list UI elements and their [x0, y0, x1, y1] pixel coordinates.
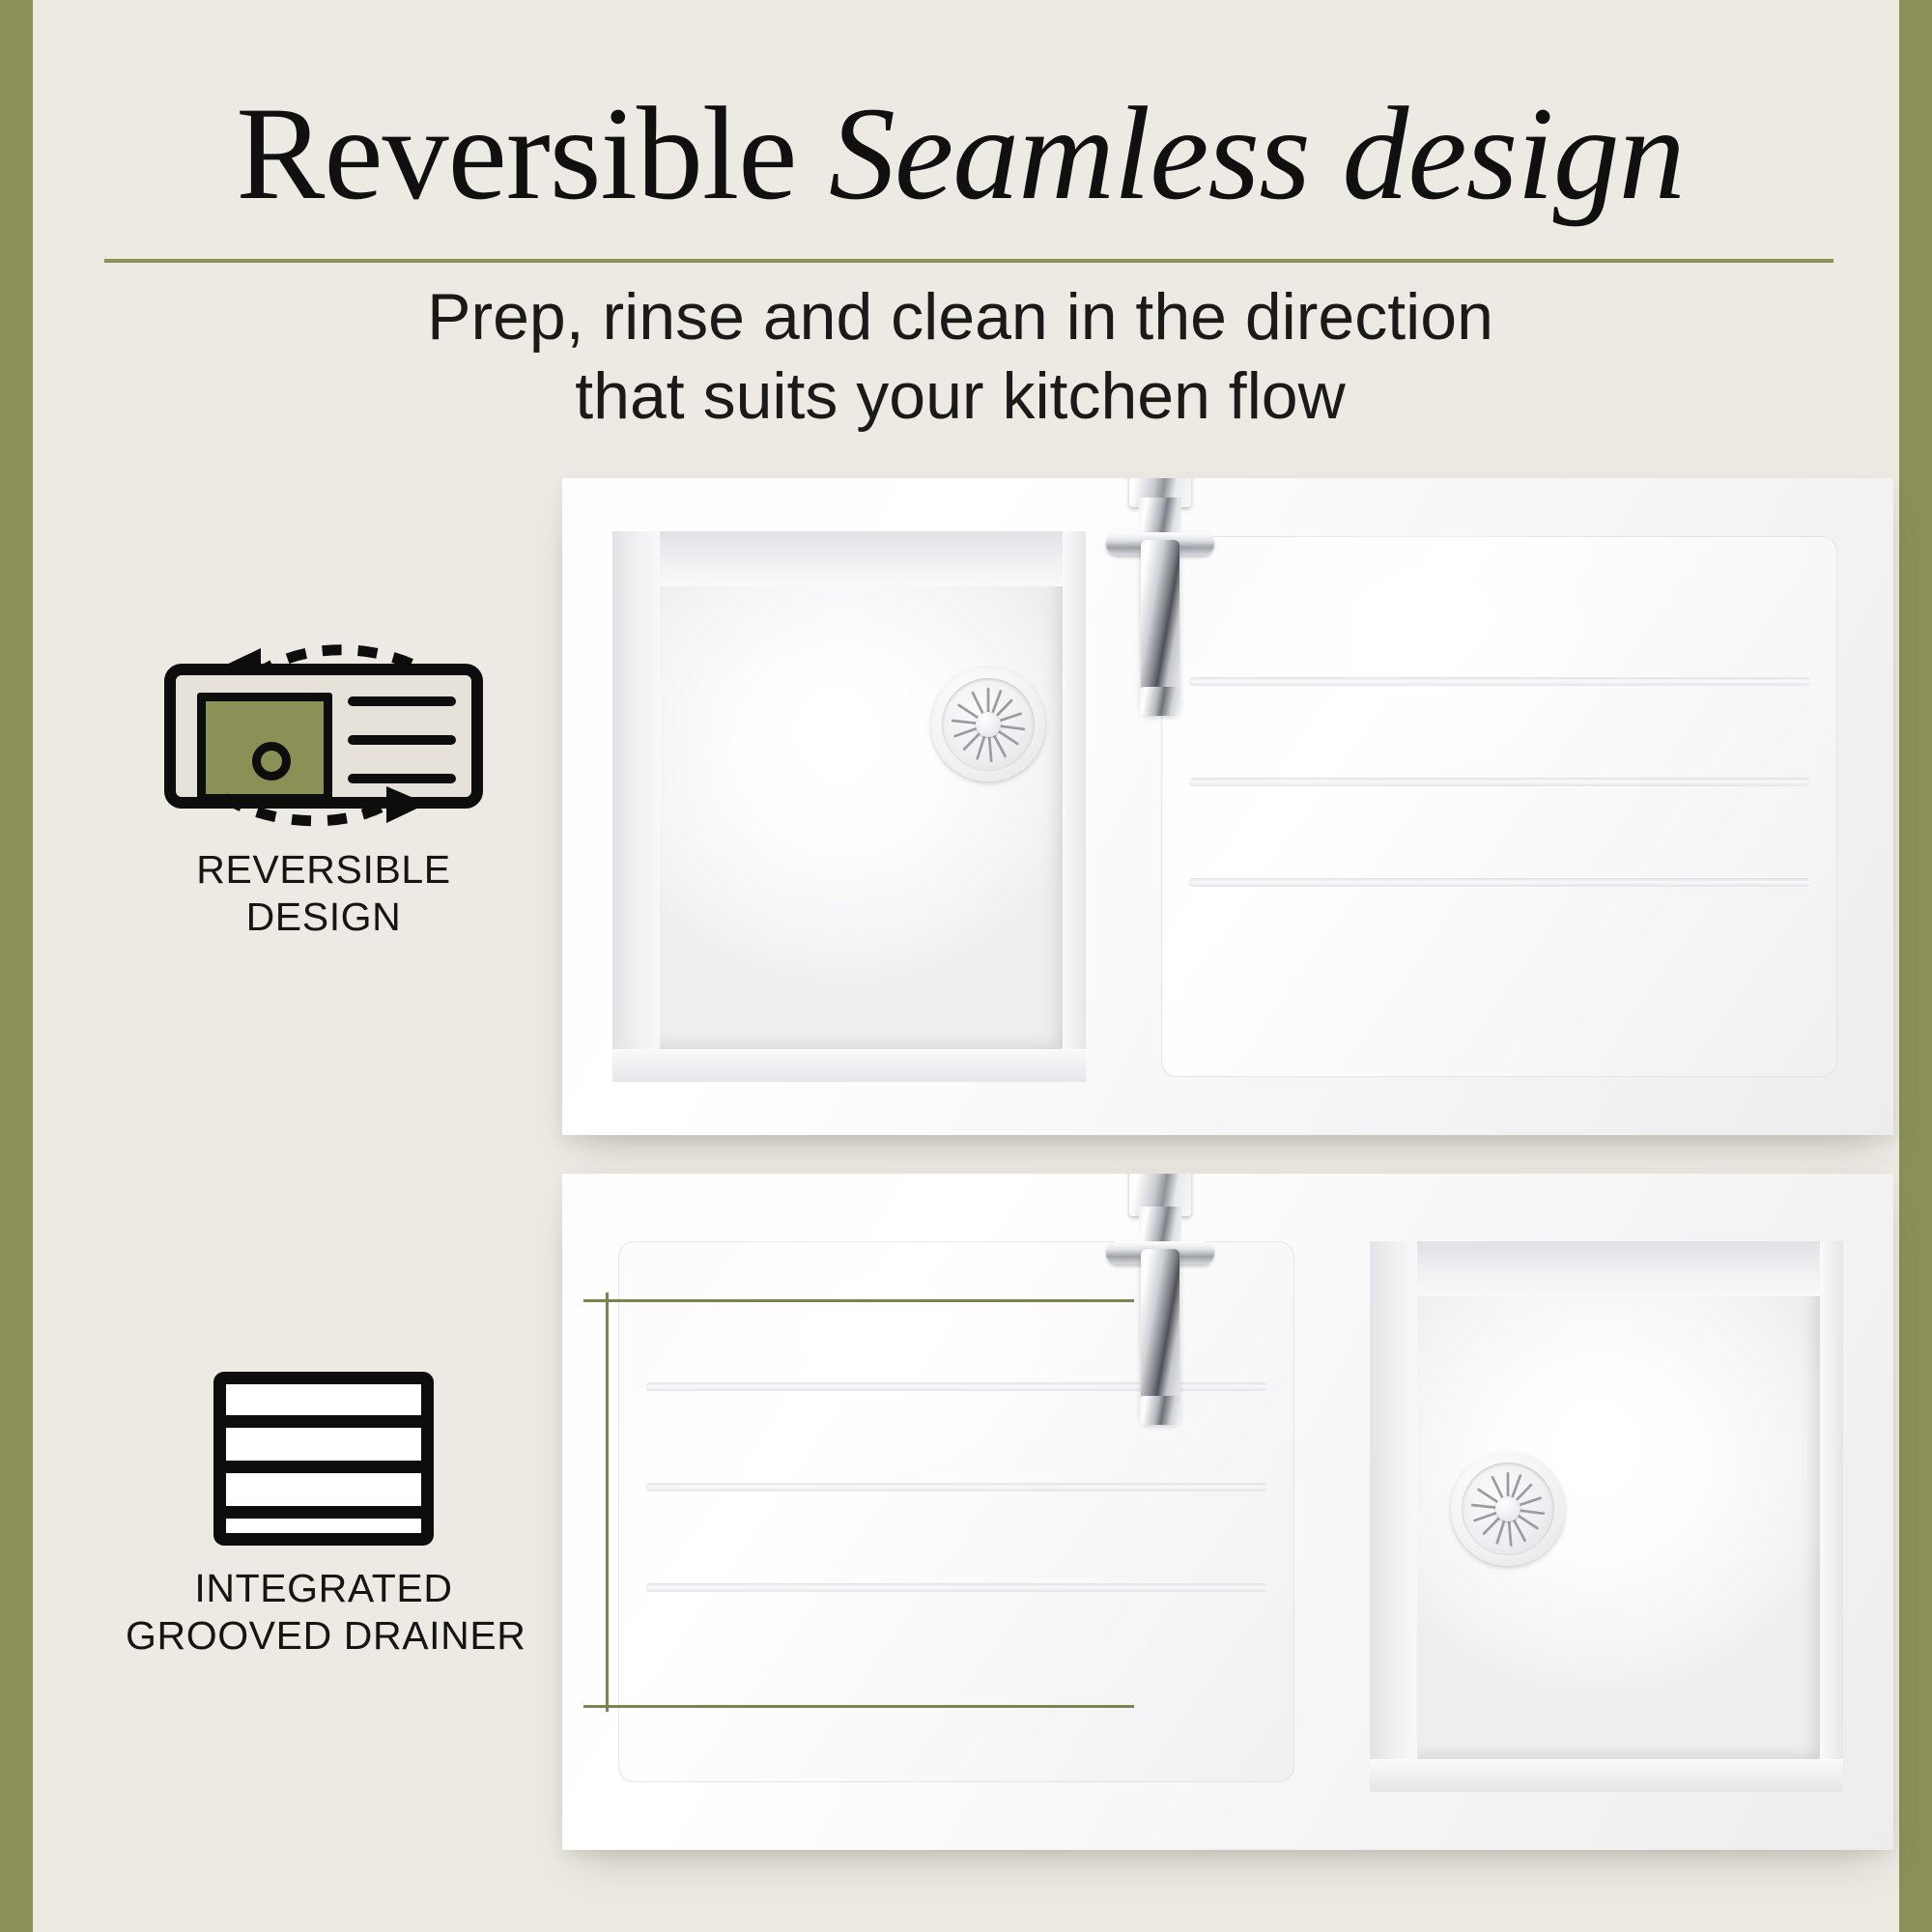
reversible-sink-icon: [164, 638, 483, 831]
feature-reversible-design: REVERSIBLE DESIGN: [126, 638, 522, 941]
reversible-icon-groove-1: [348, 696, 456, 706]
sink-bowl-top: [612, 531, 1086, 1082]
measurement-line-bottom: [583, 1705, 1134, 1708]
sink-drain-icon-bottom: [1451, 1452, 1565, 1566]
drainer-highlight: [1229, 536, 1621, 796]
faucet-neck: [1139, 497, 1181, 536]
faucet-aerator: [1140, 1396, 1180, 1425]
drainer-groove-2: [1188, 778, 1810, 786]
drainer-icon-bar-3: [226, 1506, 421, 1519]
feature-label-drainer-line1: INTEGRATED: [126, 1565, 522, 1612]
rotate-arrow-bottom-icon: [164, 782, 483, 840]
faucet-aerator: [1140, 687, 1180, 716]
reversible-icon-groove-2: [348, 735, 456, 745]
drainer-groove-3: [645, 1583, 1267, 1592]
faucet-top: [1119, 478, 1202, 733]
bowl-floor: [655, 581, 1062, 1049]
product-image-sink-bowl-left: [562, 478, 1893, 1135]
drainer-highlight: [686, 1241, 1078, 1501]
drainer-groove-1: [1188, 677, 1810, 686]
drainer-icon-bar-2: [226, 1461, 421, 1473]
bowl-wall-right: [1063, 531, 1087, 1082]
infographic-canvas: Reversible Seamless design Prep, rinse a…: [0, 0, 1932, 1932]
sink-bowl-bottom: [1370, 1241, 1843, 1792]
bowl-wall-left: [612, 531, 660, 1082]
bowl-wall-bottom: [1370, 1759, 1843, 1792]
grooved-drainer-icon: [213, 1372, 434, 1546]
drain-center-hub: [1495, 1496, 1520, 1521]
page-subtitle: Prep, rinse and clean in the direction t…: [91, 278, 1830, 436]
bowl-wall-top: [1370, 1241, 1843, 1296]
reversible-icon-drain-icon: [252, 742, 291, 781]
bowl-wall-bottom: [612, 1049, 1086, 1082]
feature-label-drainer-line2: GROOVED DRAINER: [126, 1612, 522, 1660]
drainer-groove-2: [645, 1483, 1267, 1492]
feature-label-reversible-line2: DESIGN: [126, 894, 522, 941]
measurement-line-top: [583, 1299, 1134, 1302]
drain-center-hub: [976, 712, 1001, 737]
drainer-icon-bar-1: [226, 1415, 421, 1428]
title-divider-rule: [104, 259, 1833, 263]
sink-drain-icon-top: [931, 668, 1045, 781]
title-italic-part: Seamless design: [829, 79, 1685, 227]
feature-label-reversible-line1: REVERSIBLE: [126, 846, 522, 894]
bowl-wall-right: [1820, 1241, 1844, 1792]
faucet-bottom: [1119, 1174, 1202, 1442]
measurement-line-vertical: [606, 1293, 609, 1712]
bowl-wall-top: [612, 531, 1086, 586]
drainer-panel-top: [1161, 536, 1837, 1077]
subtitle-line-2: that suits your kitchen flow: [91, 357, 1830, 437]
drainer-groove-3: [1188, 878, 1810, 887]
bowl-wall-left: [1370, 1241, 1417, 1792]
title-regular-part: Reversible: [236, 79, 829, 227]
feature-grooved-drainer: INTEGRATED GROOVED DRAINER: [126, 1372, 522, 1660]
subtitle-line-1: Prep, rinse and clean in the direction: [91, 278, 1830, 357]
infographic-inner: Reversible Seamless design Prep, rinse a…: [33, 0, 1899, 1932]
faucet-neck: [1139, 1207, 1181, 1245]
page-title: Reversible Seamless design: [91, 87, 1830, 220]
product-image-sink-bowl-right: [562, 1174, 1893, 1850]
